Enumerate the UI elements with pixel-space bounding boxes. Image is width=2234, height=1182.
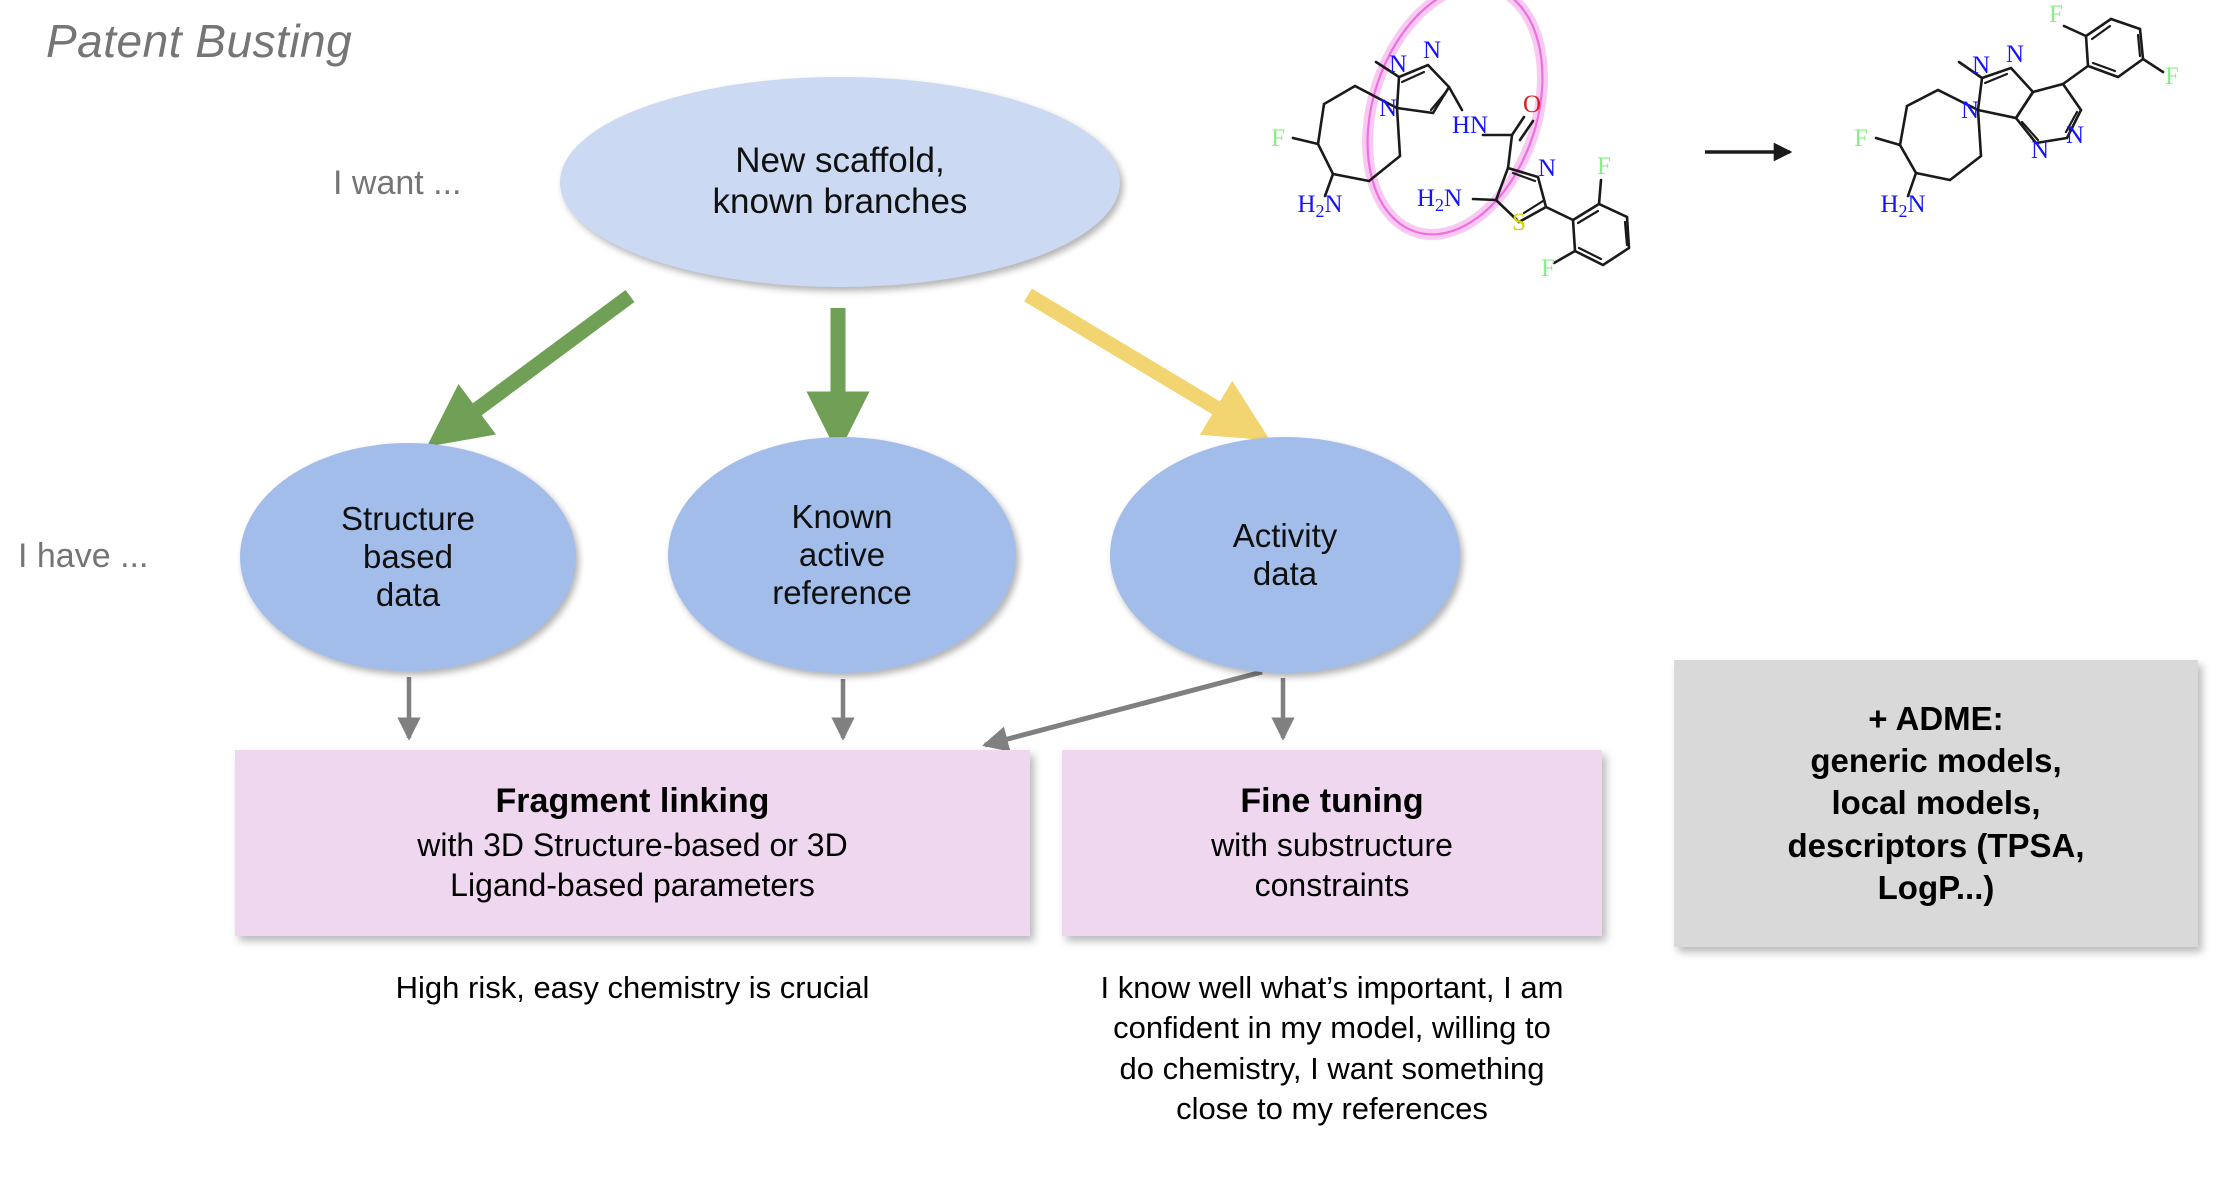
node-activity-data[interactable]: Activity data — [1110, 437, 1460, 673]
slide-canvas: Patent Busting I want ... I have ... — [0, 0, 2234, 1182]
node-structure-based-data[interactable]: Structure based data — [240, 443, 576, 671]
atom-label-h2n: H2N — [1880, 191, 1925, 221]
scaffold-highlight-ellipse — [1337, 0, 1572, 257]
atom-label-o: O — [1523, 91, 1541, 118]
arrow-activity-to-fragment — [985, 672, 1262, 745]
atom-label-n: N — [1389, 51, 1407, 78]
atom-label-n: N — [1538, 155, 1556, 182]
arrow-scaffold-to-structure — [452, 296, 630, 428]
right-structure: N N N N N F H2N F F — [1854, 1, 2179, 221]
box-fine-tuning[interactable]: Fine tuning with substructure constraint… — [1062, 750, 1602, 936]
caption-fine-tuning: I know well what’s important, I am confi… — [1052, 968, 1612, 1129]
caption-fragment-linking: High risk, easy chemistry is crucial — [235, 968, 1030, 1008]
atom-label-f: F — [2049, 1, 2063, 28]
atom-label-n: N — [1379, 95, 1397, 122]
box-fragment-linking[interactable]: Fragment linking with 3D Structure-based… — [235, 750, 1030, 936]
atom-label-n: N — [2006, 41, 2024, 68]
atom-label-n: N — [1423, 37, 1441, 64]
atom-label-f: F — [1271, 125, 1285, 152]
atom-label-f: F — [1597, 153, 1611, 180]
atom-label-h2n: H2N — [1297, 191, 1342, 221]
atom-label-f: F — [2165, 63, 2179, 90]
box-fragment-linking-subtitle: with 3D Structure-based or 3D Ligand-bas… — [417, 825, 847, 905]
atom-label-n: N — [2031, 137, 2049, 164]
box-fine-tuning-title: Fine tuning — [1240, 781, 1423, 822]
atom-label-n: N — [1961, 97, 1979, 124]
page-title: Patent Busting — [46, 14, 352, 68]
arrow-scaffold-to-activity — [1028, 295, 1243, 424]
box-fine-tuning-subtitle: with substructure constraints — [1211, 825, 1453, 905]
left-structure: N N N HN O N S H2N F H2N F F — [1271, 0, 1629, 282]
atom-label-s: S — [1512, 209, 1526, 236]
atom-label-h2n: H2N — [1417, 185, 1462, 215]
node-known-active-reference[interactable]: Known active reference — [668, 437, 1016, 673]
atom-label-n: N — [2066, 122, 2084, 149]
box-fragment-linking-title: Fragment linking — [496, 781, 770, 822]
node-new-scaffold[interactable]: New scaffold, known branches — [560, 77, 1120, 287]
row-label-i-have: I have ... — [18, 537, 148, 576]
atom-label-n: N — [1972, 52, 1990, 79]
box-adme[interactable]: + ADME: generic models, local models, de… — [1674, 660, 2198, 947]
atom-label-f: F — [1541, 255, 1555, 282]
atom-label-hn: HN — [1452, 112, 1488, 139]
row-label-i-want: I want ... — [333, 164, 462, 203]
atom-label-f: F — [1854, 125, 1868, 152]
